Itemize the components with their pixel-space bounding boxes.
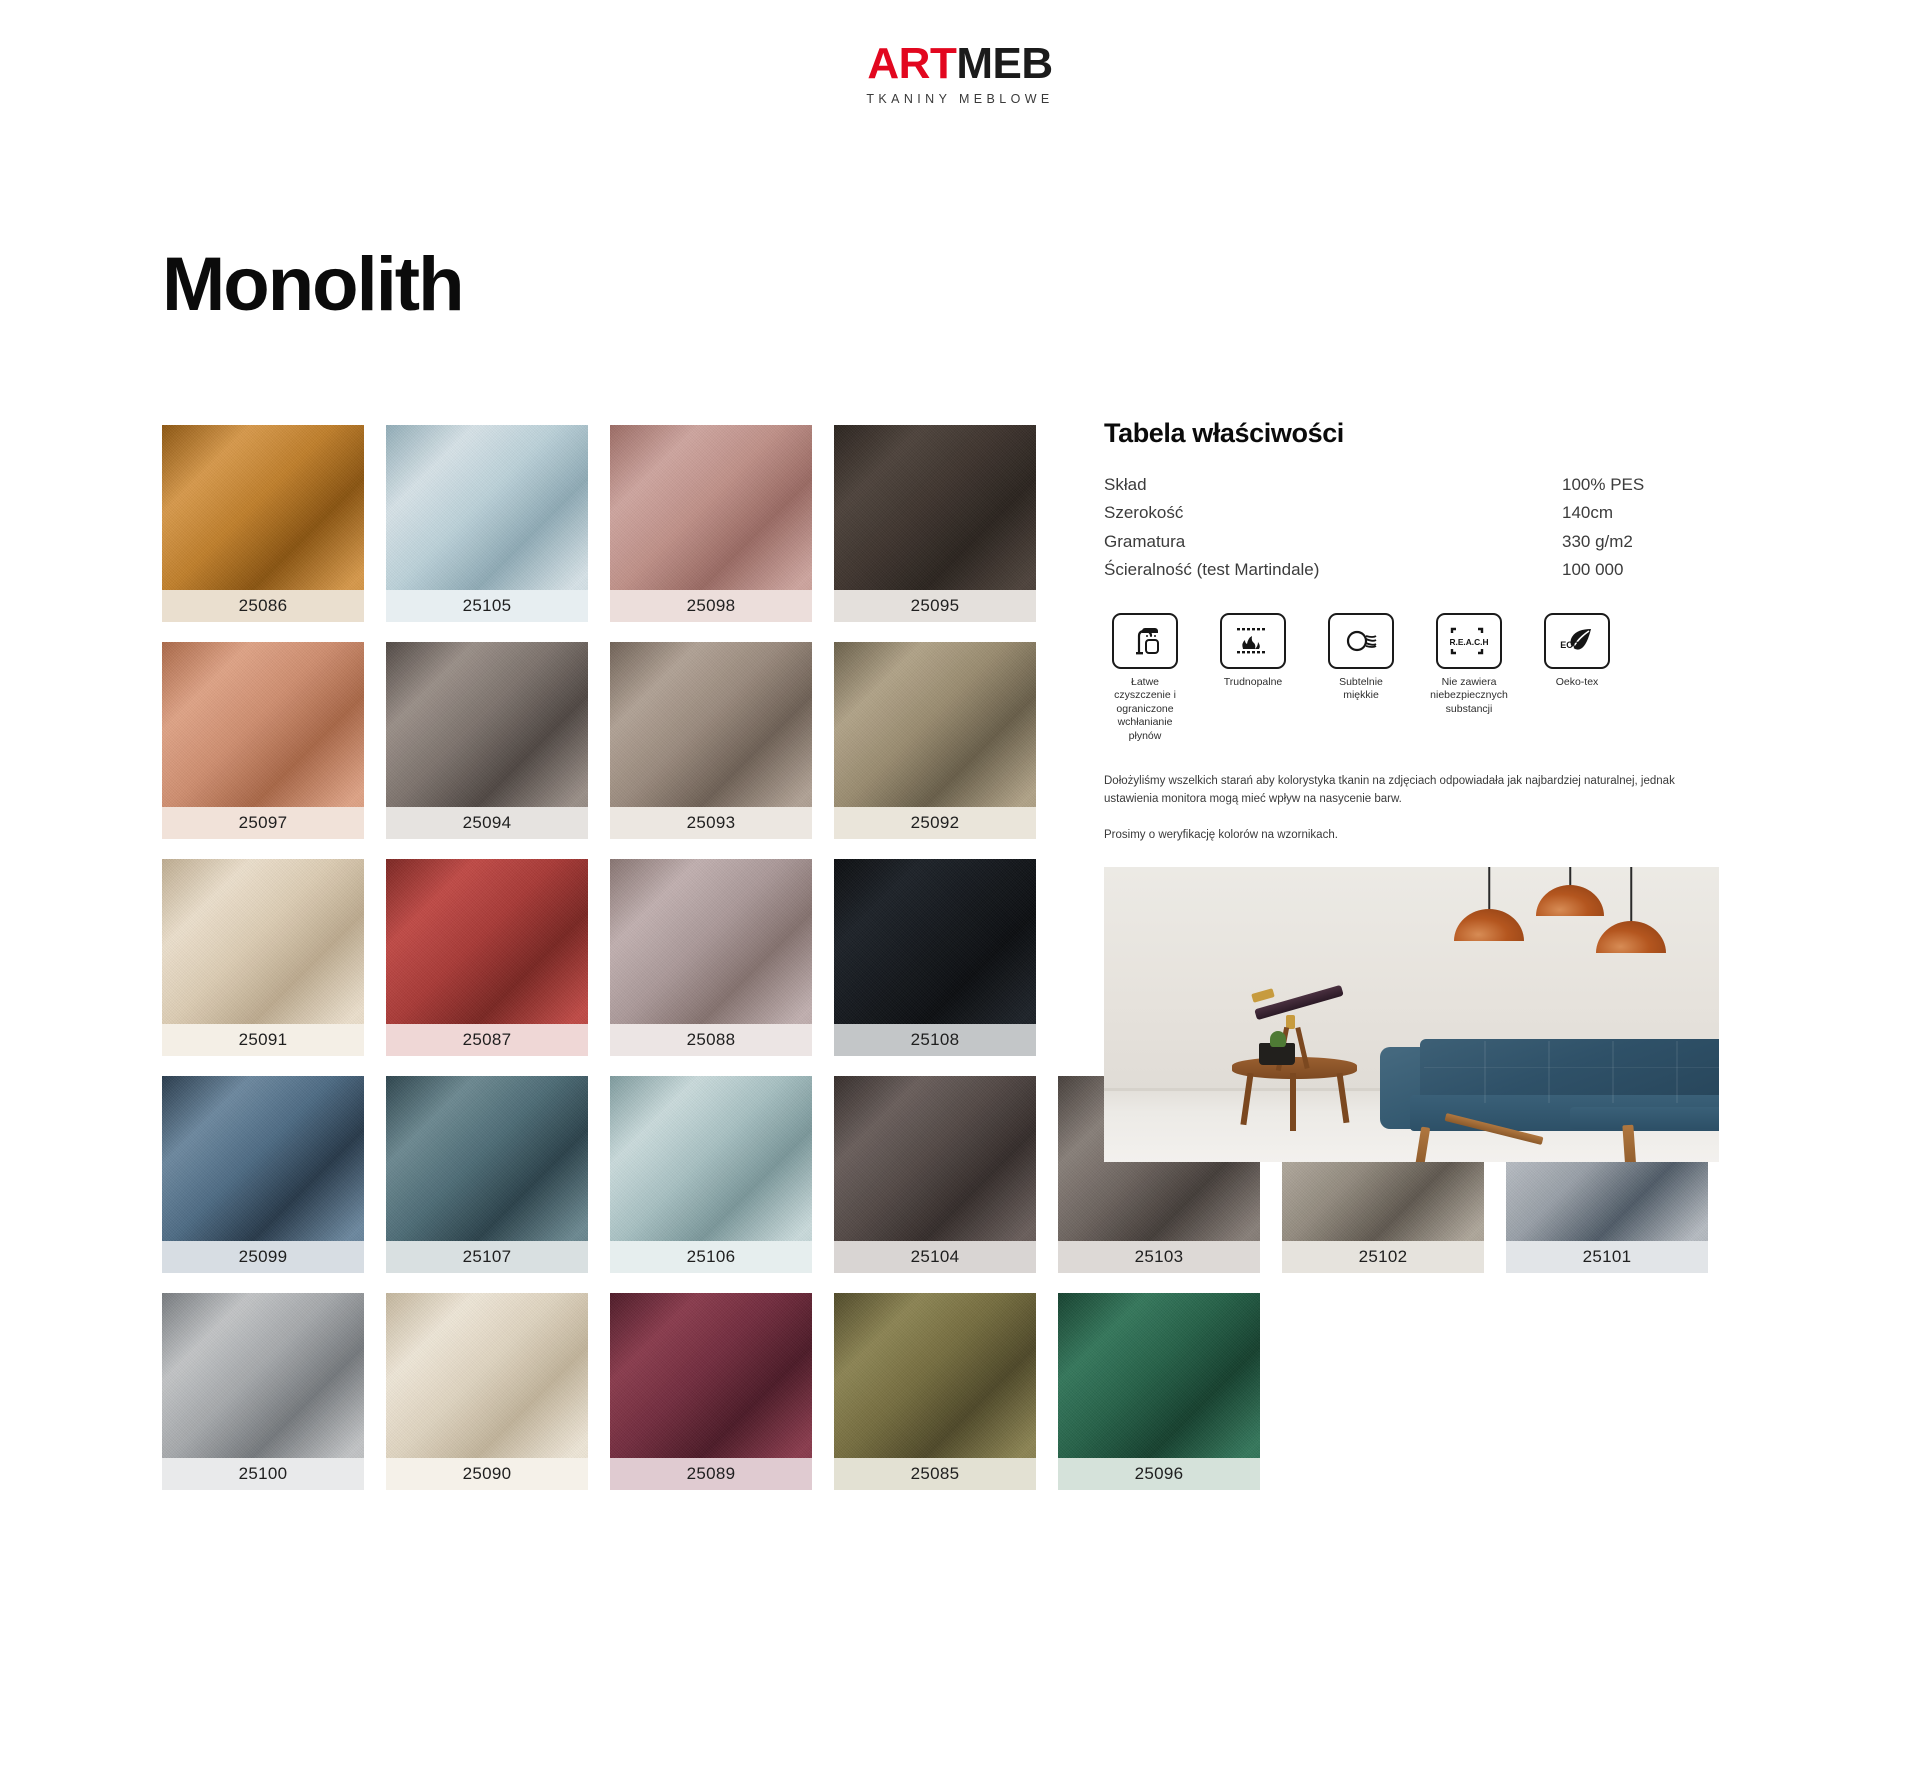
eco-leaf-icon: ECO xyxy=(1544,613,1610,669)
swatch-fabric-image xyxy=(162,1076,364,1241)
properties-panel: Tabela właściwości Skład100% PESSzerokoś… xyxy=(1104,418,1722,1162)
feature-easy-clean-icon: Łatwe czyszczenie i ograniczone wchłania… xyxy=(1104,613,1186,743)
swatch-code-label: 25105 xyxy=(386,590,588,622)
swatch-25089[interactable]: 25089 xyxy=(610,1293,812,1490)
logo-art-text: ART xyxy=(867,39,956,88)
property-row: Szerokość140cm xyxy=(1104,499,1722,527)
swatch-code-label: 25099 xyxy=(162,1241,364,1273)
swatch-25095[interactable]: 25095 xyxy=(834,425,1036,622)
swatch-fabric-image xyxy=(834,1076,1036,1241)
swatch-fabric-image xyxy=(162,642,364,807)
swatch-25104[interactable]: 25104 xyxy=(834,1076,1036,1273)
swatch-code-label: 25088 xyxy=(610,1024,812,1056)
property-row: Skład100% PES xyxy=(1104,471,1722,499)
swatch-25092[interactable]: 25092 xyxy=(834,642,1036,839)
swatch-25099[interactable]: 25099 xyxy=(162,1076,364,1273)
swatch-fabric-image xyxy=(834,1293,1036,1458)
property-value: 100 000 xyxy=(1562,556,1722,584)
swatch-fabric-image xyxy=(386,425,588,590)
swatch-25100[interactable]: 25100 xyxy=(162,1293,364,1490)
swatch-code-label: 25090 xyxy=(386,1458,588,1490)
side-table-leg-2 xyxy=(1290,1073,1296,1131)
swatch-fabric-image xyxy=(386,1076,588,1241)
swatch-code-label: 25106 xyxy=(610,1241,812,1273)
brand-logo: ARTMEB TKANINY MEBLOWE xyxy=(0,42,1920,106)
fabric-grain-texture xyxy=(834,1293,1036,1458)
fabric-grain-texture xyxy=(386,1076,588,1241)
fabric-grain-texture xyxy=(386,642,588,807)
swatch-25085[interactable]: 25085 xyxy=(834,1293,1036,1490)
swatch-25087[interactable]: 25087 xyxy=(386,859,588,1056)
property-value: 330 g/m2 xyxy=(1562,528,1722,556)
fabric-grain-texture xyxy=(1058,1293,1260,1458)
property-row: Ścieralność (test Martindale)100 000 xyxy=(1104,556,1722,584)
fabric-grain-texture xyxy=(834,859,1036,1024)
swatch-fabric-image xyxy=(610,642,812,807)
feature-caption: Nie zawiera niebezpiecznych substancji xyxy=(1428,676,1510,716)
svg-text:R.E.A.C.H: R.E.A.C.H xyxy=(1449,637,1488,647)
swatch-fabric-image xyxy=(386,1293,588,1458)
swatch-code-label: 25097 xyxy=(162,807,364,839)
swatch-code-label: 25094 xyxy=(386,807,588,839)
swatch-fabric-image xyxy=(610,1076,812,1241)
sofa-tuft-line-v2 xyxy=(1548,1041,1550,1103)
swatch-code-label: 25100 xyxy=(162,1458,364,1490)
feature-icon-row: Łatwe czyszczenie i ograniczone wchłania… xyxy=(1104,613,1722,743)
fabric-grain-texture xyxy=(162,425,364,590)
svg-text:ECO: ECO xyxy=(1560,640,1580,650)
swatch-25107[interactable]: 25107 xyxy=(386,1076,588,1273)
swatch-code-label: 25108 xyxy=(834,1024,1036,1056)
fabric-grain-texture xyxy=(386,425,588,590)
fabric-grain-texture xyxy=(610,425,812,590)
properties-table: Skład100% PESSzerokość140cmGramatura330 … xyxy=(1104,471,1722,585)
swatch-fabric-image xyxy=(834,642,1036,807)
property-name: Szerokość xyxy=(1104,499,1562,527)
swatch-code-label: 25098 xyxy=(610,590,812,622)
fabric-grain-texture xyxy=(162,642,364,807)
swatch-fabric-image xyxy=(386,859,588,1024)
fabric-grain-texture xyxy=(610,1076,812,1241)
sofa-seat-front xyxy=(1570,1107,1719,1129)
fabric-grain-texture xyxy=(834,642,1036,807)
swatch-25098[interactable]: 25098 xyxy=(610,425,812,622)
swatch-fabric-image xyxy=(610,1293,812,1458)
swatch-fabric-image xyxy=(162,425,364,590)
swatch-25094[interactable]: 25094 xyxy=(386,642,588,839)
logo-meb-text: MEB xyxy=(956,39,1052,88)
swatch-code-label: 25104 xyxy=(834,1241,1036,1273)
fabric-catalog-page: { "brand": { "name_red": "ART", "name_bl… xyxy=(0,0,1920,1768)
color-disclaimer-note: Dołożyliśmy wszelkich starań aby kolorys… xyxy=(1104,773,1719,809)
reach-icon: R.E.A.C.H xyxy=(1436,613,1502,669)
feature-caption: Łatwe czyszczenie i ograniczone wchłania… xyxy=(1104,676,1186,743)
swatch-code-label: 25095 xyxy=(834,590,1036,622)
fabric-grain-texture xyxy=(386,1293,588,1458)
property-value: 140cm xyxy=(1562,499,1722,527)
page-title: Monolith xyxy=(162,247,463,323)
easy-clean-icon xyxy=(1112,613,1178,669)
fabric-grain-texture xyxy=(610,642,812,807)
swatch-code-label: 25087 xyxy=(386,1024,588,1056)
swatch-25093[interactable]: 25093 xyxy=(610,642,812,839)
swatch-row: 2510025090250892508525096 xyxy=(162,1293,1722,1490)
swatch-code-label: 25101 xyxy=(1506,1241,1708,1273)
sofa-tuft-line-h1 xyxy=(1424,1067,1719,1069)
property-value: 100% PES xyxy=(1562,471,1722,499)
sofa-tuft-line-v3 xyxy=(1612,1041,1614,1103)
fabric-grain-texture xyxy=(834,1076,1036,1241)
swatch-code-label: 25103 xyxy=(1058,1241,1260,1273)
properties-title: Tabela właściwości xyxy=(1104,418,1722,449)
fabric-grain-texture xyxy=(610,1293,812,1458)
swatch-code-label: 25089 xyxy=(610,1458,812,1490)
property-name: Skład xyxy=(1104,471,1562,499)
fabric-grain-texture xyxy=(162,1076,364,1241)
swatch-25096[interactable]: 25096 xyxy=(1058,1293,1260,1490)
feature-caption: Subtelnie miękkie xyxy=(1320,676,1402,703)
soft-touch-icon xyxy=(1328,613,1394,669)
swatch-fabric-image xyxy=(162,859,364,1024)
swatch-code-label: 25093 xyxy=(610,807,812,839)
swatch-25108[interactable]: 25108 xyxy=(834,859,1036,1056)
swatch-fabric-image xyxy=(386,642,588,807)
swatch-fabric-image xyxy=(834,425,1036,590)
swatch-code-label: 25086 xyxy=(162,590,364,622)
swatch-code-label: 25092 xyxy=(834,807,1036,839)
swatch-fabric-image xyxy=(1058,1293,1260,1458)
fabric-grain-texture xyxy=(610,859,812,1024)
swatch-25088[interactable]: 25088 xyxy=(610,859,812,1056)
swatch-code-label: 25091 xyxy=(162,1024,364,1056)
sample-verification-note: Prosimy o weryfikację kolorów na wzornik… xyxy=(1104,827,1719,845)
swatch-25090[interactable]: 25090 xyxy=(386,1293,588,1490)
sofa-tuft-line-v1 xyxy=(1484,1041,1486,1103)
logo-tagline: TKANINY MEBLOWE xyxy=(0,92,1920,106)
sofa-tuft-line-v4 xyxy=(1676,1041,1678,1103)
telescope-tripod-head xyxy=(1286,1015,1295,1029)
property-row: Gramatura330 g/m2 xyxy=(1104,528,1722,556)
swatch-fabric-image xyxy=(834,859,1036,1024)
fabric-grain-texture xyxy=(386,859,588,1024)
swatch-code-label: 25096 xyxy=(1058,1458,1260,1490)
swatch-code-label: 25102 xyxy=(1282,1241,1484,1273)
swatch-fabric-image xyxy=(162,1293,364,1458)
swatch-25086[interactable]: 25086 xyxy=(162,425,364,622)
feature-eco-leaf-icon: ECOOeko-tex xyxy=(1536,613,1618,743)
interior-sofa-photo xyxy=(1104,867,1719,1162)
feature-reach-icon: R.E.A.C.HNie zawiera niebezpiecznych sub… xyxy=(1428,613,1510,743)
swatch-fabric-image xyxy=(610,859,812,1024)
swatch-25091[interactable]: 25091 xyxy=(162,859,364,1056)
feature-soft-touch-icon: Subtelnie miękkie xyxy=(1320,613,1402,743)
swatch-code-label: 25085 xyxy=(834,1458,1036,1490)
feature-caption: Oeko-tex xyxy=(1536,676,1618,689)
fabric-grain-texture xyxy=(834,425,1036,590)
cactus xyxy=(1270,1031,1286,1047)
feature-caption: Trudnopalne xyxy=(1212,676,1294,689)
swatch-fabric-image xyxy=(610,425,812,590)
property-name: Gramatura xyxy=(1104,528,1562,556)
fabric-grain-texture xyxy=(162,859,364,1024)
property-name: Ścieralność (test Martindale) xyxy=(1104,556,1562,584)
flame-retardant-icon xyxy=(1220,613,1286,669)
logo-wordmark: ARTMEB xyxy=(0,42,1920,86)
swatch-25106[interactable]: 25106 xyxy=(610,1076,812,1273)
swatch-code-label: 25107 xyxy=(386,1241,588,1273)
swatch-25105[interactable]: 25105 xyxy=(386,425,588,622)
feature-flame-retardant-icon: Trudnopalne xyxy=(1212,613,1294,743)
fabric-grain-texture xyxy=(162,1293,364,1458)
swatch-25097[interactable]: 25097 xyxy=(162,642,364,839)
